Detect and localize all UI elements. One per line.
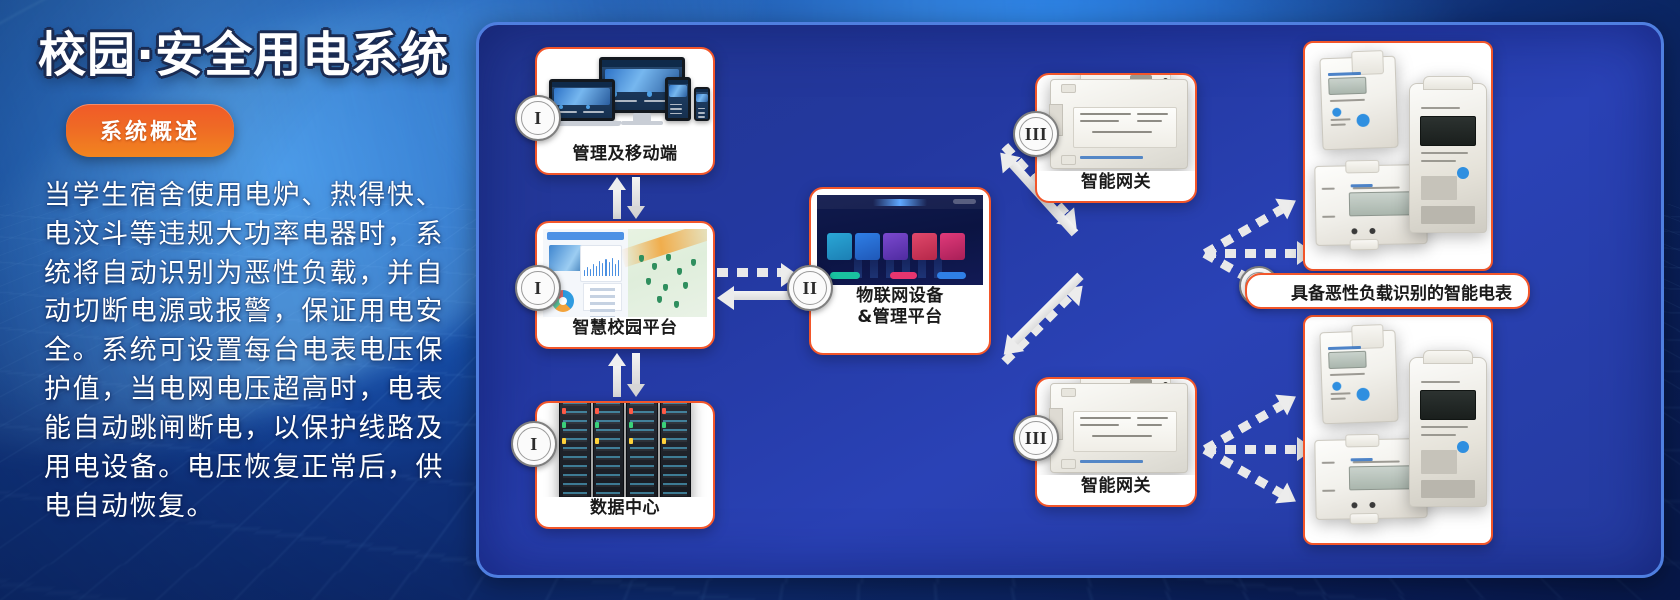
din-rail-single-phase-meter [1319,56,1398,151]
dashed-arrow-right-icon [717,268,785,277]
node-label-admin-mobile: 管理及移动端 [537,143,713,173]
node-numeral-gateway-top: III [1025,124,1048,145]
node-label-gateway-top: 智能网关 [1037,171,1195,201]
arrow-up-icon [609,177,624,219]
node-badge-gateway-bottom: III [1013,415,1059,461]
system-diagram-panel: 管理及移动端 I [476,22,1664,578]
node-label-campus-platform: 智慧校园平台 [537,317,713,347]
node-badge-admin-mobile: I [515,95,561,141]
node-badge-campus-platform: I [515,265,561,311]
node-numeral-data-center: I [530,434,538,455]
node-card-data-center[interactable]: 数据中心 [535,401,715,529]
node-label-iot-platform-line2: &管理平台 [811,307,989,336]
node-card-iot-platform[interactable]: 物联网设备 &管理平台 [809,187,991,355]
dashboard-map-icon [537,223,713,317]
arrow-up-icon [609,353,624,397]
smart-gateway-icon [1037,75,1195,171]
arrow-down-icon [628,177,643,219]
node-numeral-admin-mobile: I [534,108,542,129]
overview-badge: 系统概述 [66,104,234,157]
node-card-admin-mobile[interactable]: 管理及移动端 [535,47,715,175]
node-numeral-iot-platform: II [802,278,817,299]
node-label-iot-platform-line1: 物联网设备 [811,285,989,307]
arrow-down-icon [628,353,643,397]
devices-icon [537,49,713,143]
server-rack-icon [537,403,713,497]
meter-images-bottom [1305,317,1491,543]
meter-group-top[interactable] [1303,41,1493,271]
node-numeral-gateway-bottom: III [1025,428,1048,449]
connector-gateway-bottom-to-meters [1197,381,1307,501]
node-numeral-campus-platform: I [534,278,542,299]
node-badge-data-center: I [511,421,557,467]
node-card-gateway-top[interactable]: 智能网关 [1035,73,1197,203]
overview-paragraph: 当学生宿舍使用电炉、热得快、电汶斗等违规大功率电器时，系统将自动识别为恶性负载，… [44,177,444,527]
node-card-campus-platform[interactable]: 智慧校园平台 [535,221,715,349]
node-badge-iot-platform: II [787,265,833,311]
connector-platform-to-datacenter [609,353,643,397]
meter-images-top [1305,43,1491,269]
node-card-gateway-bottom[interactable]: 智能网关 [1035,377,1197,507]
industrial-three-phase-meter [1409,357,1487,507]
node-label-gateway-bottom: 智能网关 [1037,475,1195,505]
din-rail-single-phase-meter [1319,330,1398,425]
page-title: 校园·安全用电系统 [38,30,446,82]
meter-group-bottom[interactable] [1303,315,1493,545]
smart-gateway-icon [1037,379,1195,475]
connector-admin-to-platform [609,177,643,219]
node-badge-gateway-top: III [1013,111,1059,157]
intro-column: 校园·安全用电系统 系统概述 当学生宿舍使用电炉、热得快、电汶斗等违规大功率电器… [0,0,470,600]
meter-label-strip[interactable]: 具备恶性负载识别的智能电表 [1245,273,1530,309]
industrial-three-phase-meter [1409,83,1487,233]
meter-label-text: 具备恶性负载识别的智能电表 [1291,279,1512,304]
node-label-data-center: 数据中心 [537,497,713,527]
iot-dashboard-icon [811,189,989,285]
